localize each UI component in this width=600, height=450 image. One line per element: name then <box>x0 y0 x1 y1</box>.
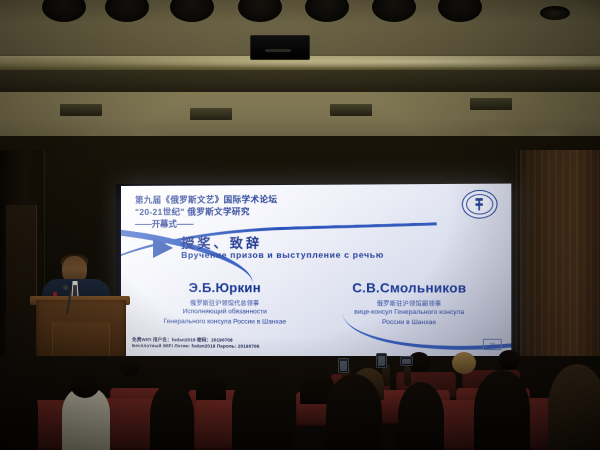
ceiling-spotlight-icon <box>540 6 570 20</box>
speaker-name: Э.Б.Юркин <box>139 280 311 295</box>
ceiling-vent-icon <box>470 98 512 110</box>
audience-person <box>150 382 194 450</box>
audience-person <box>196 372 226 402</box>
ceiling-shadow-band <box>0 70 600 92</box>
side-door[interactable] <box>6 205 37 355</box>
audience-head <box>70 370 100 398</box>
audience-person <box>548 364 600 450</box>
audience-head <box>498 350 520 370</box>
projection-screen: 第九届《俄罗斯文艺》国际学术论坛 "20-21世纪" 俄罗斯文学研究 ——开幕式… <box>121 184 511 359</box>
ceiling-vent-icon <box>60 104 102 116</box>
audience-person <box>474 370 530 450</box>
ceiling-vent-icon <box>190 108 232 120</box>
speaker-block-1: Э.Б.Юркин 俄罗斯驻沪领馆代总领事 Исполняющий обязан… <box>139 280 311 327</box>
speaker-title-cn: 俄罗斯驻沪领馆代总领事 <box>139 298 311 307</box>
fudan-university-logo-icon <box>462 190 498 219</box>
wifi-info-ru: Бесплатный WIFI Логин: fudan2019 Пароль:… <box>132 343 259 350</box>
triangle-bullet-icon <box>153 238 173 258</box>
slide-page-number: 16 <box>483 339 502 350</box>
ceiling-projector-box <box>250 35 310 60</box>
wood-wall-panel-right <box>520 150 600 390</box>
ceiling-vent-icon <box>330 104 372 116</box>
smartphone-icon[interactable] <box>400 356 413 366</box>
wifi-info: 免费WIFI 用户名：fudan2019 密码：20190708 Бесплат… <box>132 337 259 350</box>
audience-head <box>452 352 476 374</box>
audience-person <box>398 382 444 450</box>
presentation-slide: 第九届《俄罗斯文艺》国际学术论坛 "20-21世纪" 俄罗斯文学研究 ——开幕式… <box>121 184 511 359</box>
audience-person <box>232 366 292 450</box>
smartphone-icon[interactable] <box>338 358 349 373</box>
section-heading-ru: Вручение призов и выступление с речью <box>181 250 384 260</box>
photo-scene: 第九届《俄罗斯文艺》国际学术论坛 "20-21世纪" 俄罗斯文学研究 ——开幕式… <box>0 0 600 450</box>
microphone-icon <box>63 285 68 290</box>
speaker-title-ru-line1: Исполняющий обязанности <box>139 308 311 317</box>
slide-title-line2: "20-21世纪" 俄罗斯文学研究 <box>135 205 431 218</box>
audience-person <box>326 374 382 450</box>
speaker-name: С.В.Смольников <box>319 280 501 296</box>
audience-arm <box>404 366 411 386</box>
speaker-title-ru-line2: Генерального консула России в Шанхае <box>139 318 311 327</box>
audience-head <box>120 358 140 376</box>
smartphone-icon[interactable] <box>376 353 387 368</box>
